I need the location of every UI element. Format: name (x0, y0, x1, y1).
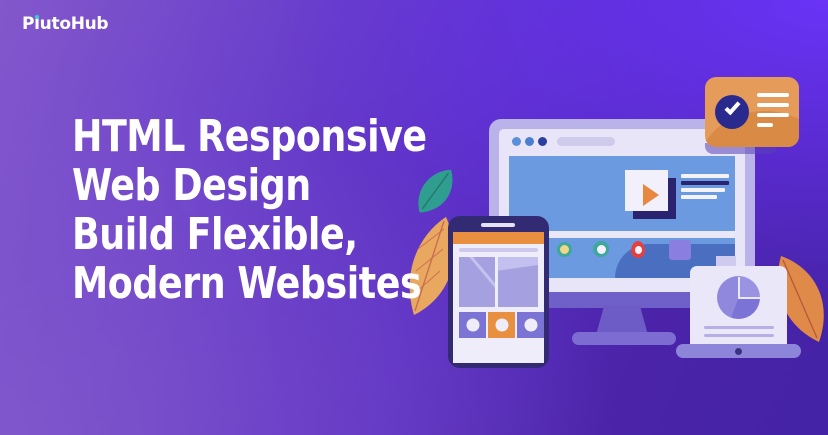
verified-checklist-card (705, 77, 799, 147)
card-line-4 (757, 123, 773, 127)
content-line-1 (681, 174, 729, 178)
phone-tile-3-icon (524, 319, 537, 332)
headline-line-1: HTML Responsive (72, 112, 403, 161)
phone-tile-1-icon (466, 319, 479, 332)
laptop-text-line-1 (704, 326, 774, 329)
card-line-2 (757, 103, 789, 107)
content-line-2 (681, 181, 729, 185)
phone-tile-2-icon (495, 319, 508, 332)
laptop-trackpad-dot-icon (735, 348, 742, 355)
headline-line-4: Modern Websites (72, 259, 403, 308)
phone-subheader-line (459, 248, 538, 252)
headline-line-3: Build Flexible, (72, 210, 403, 259)
content-line-3 (681, 188, 725, 192)
pie-slice-divider-h (738, 297, 760, 299)
phone-speaker-icon (481, 223, 515, 227)
play-icon[interactable] (643, 184, 659, 206)
browser-dot-2-icon (525, 137, 534, 146)
brand-logo[interactable]: PlutoHub (22, 14, 108, 34)
phone-image-block-2 (498, 257, 538, 307)
card-line-3 (757, 113, 789, 117)
browser-dot-1-icon (512, 137, 521, 146)
card-line-1 (757, 93, 789, 97)
monitor-stand-base (572, 332, 676, 345)
phone-image-block-1 (459, 257, 495, 307)
scene-window (669, 240, 691, 260)
checkmark-icon (725, 99, 741, 116)
page-title: HTML Responsive Web Design Build Flexibl… (72, 112, 432, 308)
phone-screen (453, 232, 544, 363)
app-icon-1-core (560, 245, 569, 254)
headline-line-2: Web Design (72, 161, 403, 210)
monitor-stand-neck (596, 305, 648, 335)
phone-app-header (453, 232, 544, 244)
app-icon-2-core (597, 245, 606, 254)
browser-address-bar[interactable] (557, 137, 615, 146)
phone-tile-3[interactable] (517, 312, 544, 338)
verified-badge-icon (715, 95, 749, 129)
mobile-phone (448, 216, 549, 368)
laptop-screen (690, 266, 787, 346)
phone-tile-2-active[interactable] (488, 312, 515, 338)
phone-tile-1[interactable] (459, 312, 486, 338)
pie-slice-divider-v (738, 277, 740, 299)
logo-accent-dot-icon (35, 15, 39, 19)
laptop-text-line-2 (704, 334, 774, 337)
app-icon-droplet-core (635, 246, 642, 254)
promo-banner: PlutoHub HTML Responsive Web Design Buil… (0, 0, 828, 435)
browser-dot-3-icon (538, 137, 547, 146)
content-line-4 (681, 195, 717, 199)
